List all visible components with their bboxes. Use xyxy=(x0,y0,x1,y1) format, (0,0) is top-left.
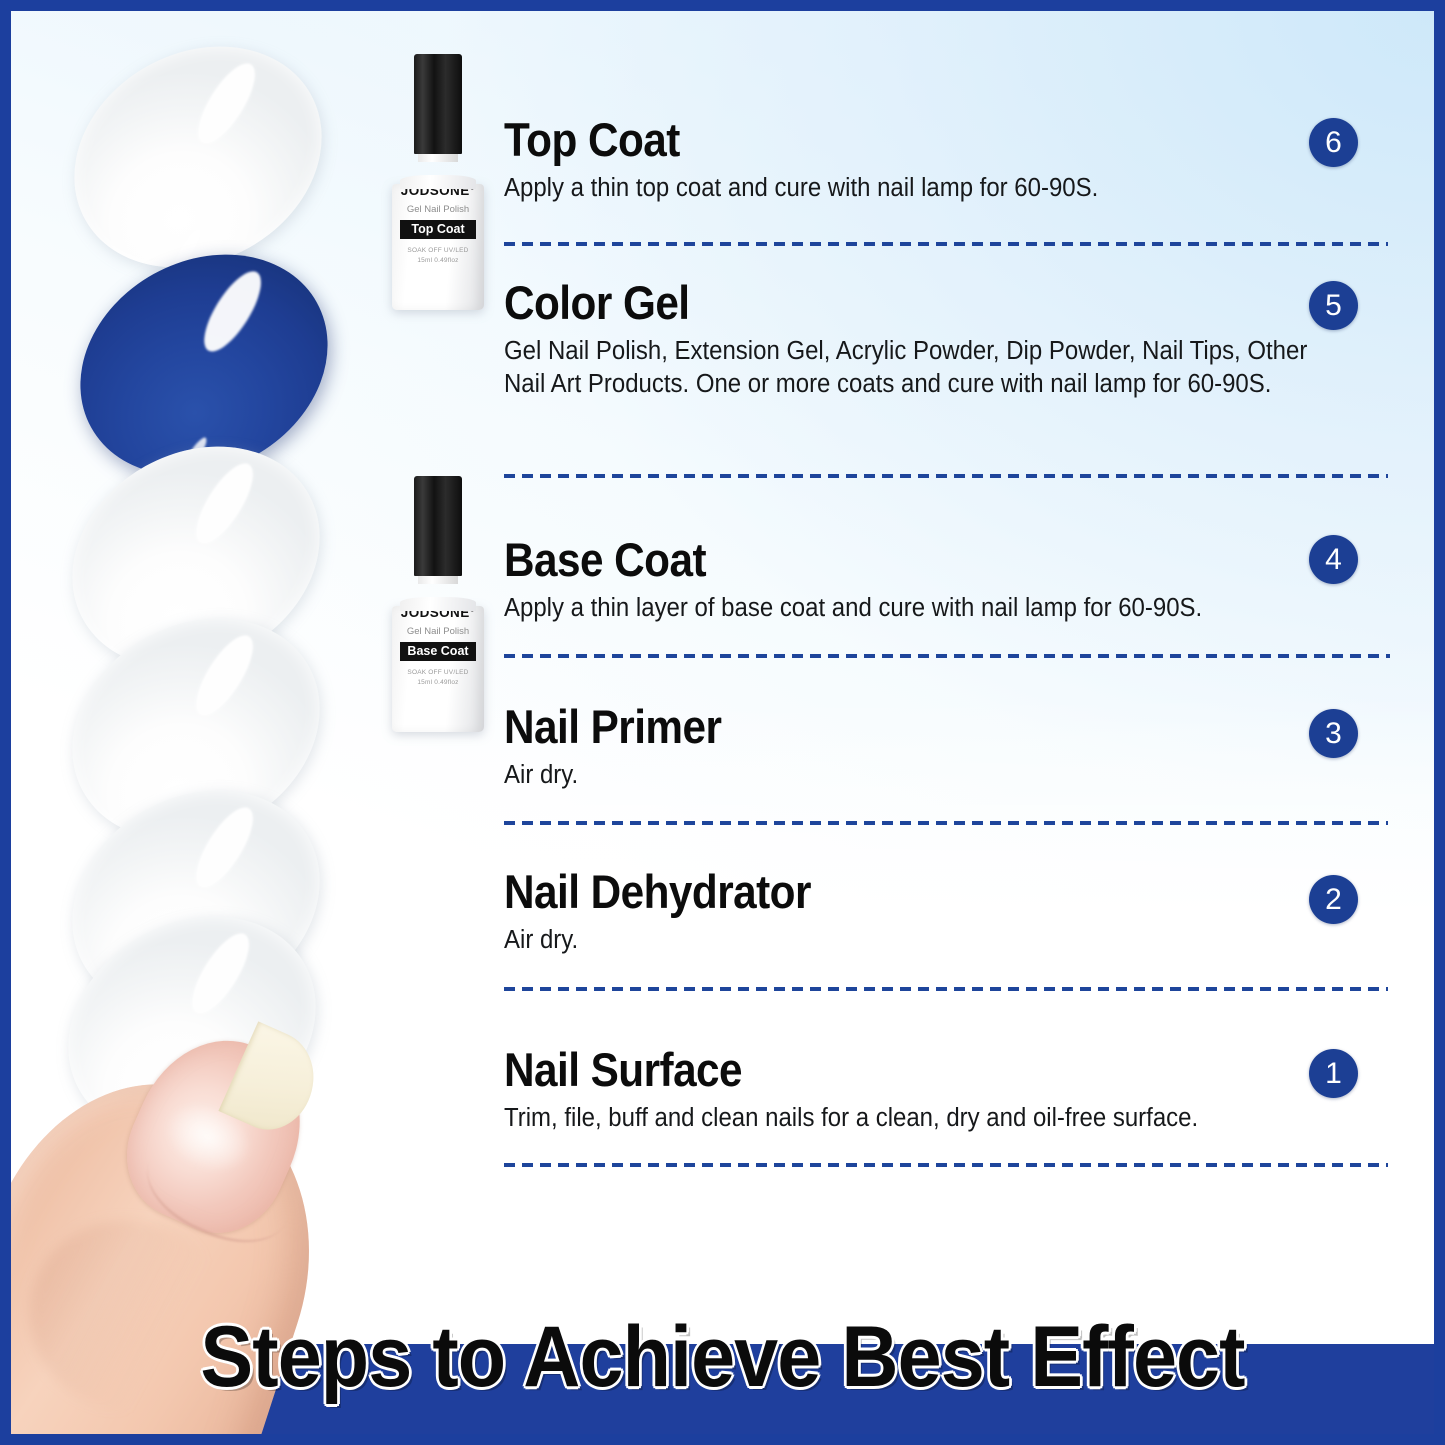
step-item-base-coat: Base Coat Apply a thin layer of base coa… xyxy=(504,536,1392,625)
steps-list: Top Coat Apply a thin top coat and cure … xyxy=(504,11,1392,1261)
bottle-fine-print: SOAK OFF UV/LED 15ml 0.49floz xyxy=(392,668,484,688)
bottle-glass-body: JODSONE® Gel Nail Polish Base Coat SOAK … xyxy=(392,606,484,732)
step-divider-1 xyxy=(504,242,1388,246)
step-item-nail-surface: Nail Surface Trim, file, buff and clean … xyxy=(504,1046,1392,1135)
bottle-base-coat: JODSONE® Gel Nail Polish Base Coat SOAK … xyxy=(392,476,484,732)
bottle-fine-print: SOAK OFF UV/LED 15ml 0.49floz xyxy=(392,246,484,266)
step-title: Nail Surface xyxy=(504,1046,1303,1094)
bottle-fine-line-1: SOAK OFF UV/LED xyxy=(392,246,484,256)
bottle-cap-icon xyxy=(414,476,462,576)
step-description: Apply a thin layer of base coat and cure… xyxy=(504,592,1339,625)
step-item-color-gel: Color Gel Gel Nail Polish, Extension Gel… xyxy=(504,279,1392,400)
step-badge-2: 2 xyxy=(1309,875,1358,924)
step-title: Nail Dehydrator xyxy=(504,868,1303,916)
bottle-subtitle: Gel Nail Polish xyxy=(392,205,484,215)
step-description: Air dry. xyxy=(504,759,1339,792)
step-divider-5 xyxy=(504,987,1388,991)
step-item-top-coat: Top Coat Apply a thin top coat and cure … xyxy=(504,116,1392,205)
poster-headline: Steps to Achieve Best Effect xyxy=(68,1314,1377,1400)
bottle-neck xyxy=(418,154,458,162)
step-item-nail-primer: Nail Primer Air dry. xyxy=(504,703,1392,792)
bottle-top-coat: JODSONE® Gel Nail Polish Top Coat SOAK O… xyxy=(392,54,484,310)
step-badge-6: 6 xyxy=(1309,118,1358,167)
step-badge-1: 1 xyxy=(1309,1049,1358,1098)
step-description: Air dry. xyxy=(504,924,1339,957)
bottle-product-name: Base Coat xyxy=(400,642,476,661)
step-divider-3 xyxy=(504,654,1390,658)
nail-swatch-stack xyxy=(11,11,371,1111)
step-badge-4: 4 xyxy=(1309,535,1358,584)
step-description: Gel Nail Polish, Extension Gel, Acrylic … xyxy=(504,335,1339,400)
step-title: Nail Primer xyxy=(504,703,1303,751)
step-description: Apply a thin top coat and cure with nail… xyxy=(504,172,1339,205)
bottle-glass-body: JODSONE® Gel Nail Polish Top Coat SOAK O… xyxy=(392,184,484,310)
bottle-shoulder xyxy=(400,597,476,611)
bottle-subtitle: Gel Nail Polish xyxy=(392,627,484,637)
step-item-nail-dehydrator: Nail Dehydrator Air dry. xyxy=(504,868,1392,957)
step-title: Color Gel xyxy=(504,279,1303,327)
step-divider-6 xyxy=(504,1163,1388,1167)
bottle-neck xyxy=(418,576,458,584)
step-title: Top Coat xyxy=(504,116,1303,164)
step-badge-5: 5 xyxy=(1309,281,1358,330)
step-divider-2 xyxy=(504,474,1388,478)
product-infographic-poster: JODSONE® Gel Nail Polish Top Coat SOAK O… xyxy=(0,0,1445,1445)
bottle-product-name: Top Coat xyxy=(400,220,476,239)
step-badge-3: 3 xyxy=(1309,709,1358,758)
bottle-cap-icon xyxy=(414,54,462,154)
step-title: Base Coat xyxy=(504,536,1303,584)
step-divider-4 xyxy=(504,821,1388,825)
step-description: Trim, file, buff and clean nails for a c… xyxy=(504,1102,1339,1135)
bottle-fine-line-2: 15ml 0.49floz xyxy=(392,256,484,266)
bottle-fine-line-1: SOAK OFF UV/LED xyxy=(392,668,484,678)
bottle-shoulder xyxy=(400,175,476,189)
bottle-fine-line-2: 15ml 0.49floz xyxy=(392,678,484,688)
